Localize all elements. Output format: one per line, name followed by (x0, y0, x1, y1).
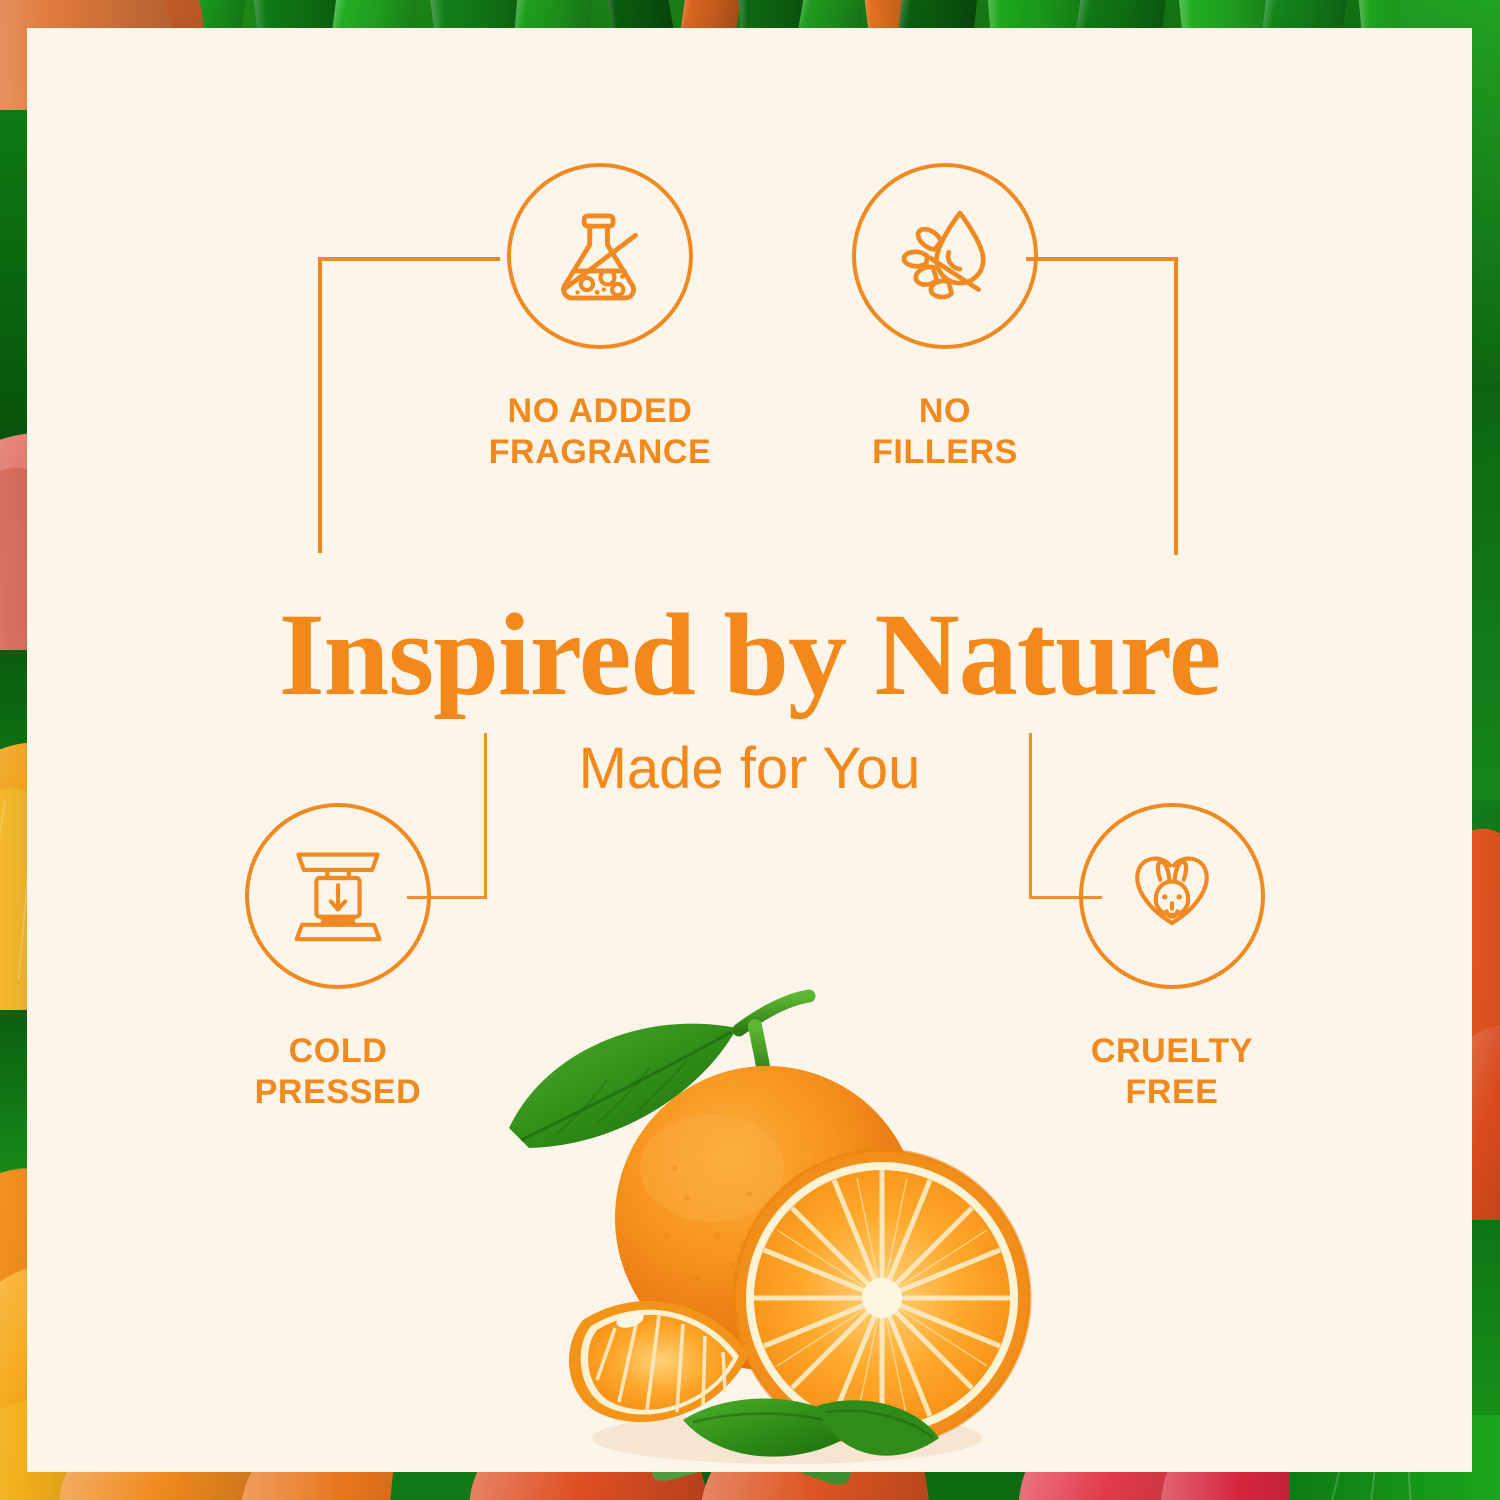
connector-line-top-right-vertical (1174, 257, 1178, 555)
connector-line-top-left-vertical (318, 257, 322, 553)
badge-circle (507, 163, 693, 349)
orange-fruit-photo (487, 968, 1087, 1472)
page-subtitle: Made for You (27, 740, 1472, 798)
content-card: NO ADDED FRAGRANCE NO FILLERS (27, 28, 1472, 1472)
badge-no-added-fragrance[interactable]: NO ADDED FRAGRANCE (410, 163, 790, 474)
badge-label: NO ADDED FRAGRANCE (410, 391, 790, 474)
badge-label: NO FILLERS (755, 391, 1135, 474)
badge-label: COLD PRESSED (168, 1031, 508, 1114)
press-machine-icon (284, 842, 392, 950)
product-feature-poster: NO ADDED FRAGRANCE NO FILLERS (0, 0, 1500, 1500)
badge-circle (245, 803, 431, 989)
badge-cold-pressed[interactable]: COLD PRESSED (168, 803, 508, 1114)
orange-fruit-illustration (487, 968, 1087, 1472)
droplet-leaf-icon (889, 200, 1001, 312)
page-title: Inspired by Nature (27, 596, 1472, 714)
badge-no-fillers[interactable]: NO FILLERS (755, 163, 1135, 474)
rabbit-heart-icon (1118, 842, 1226, 950)
badge-circle (852, 163, 1038, 349)
badge-circle (1079, 803, 1265, 989)
flask-no-fragrance-icon (544, 200, 656, 312)
